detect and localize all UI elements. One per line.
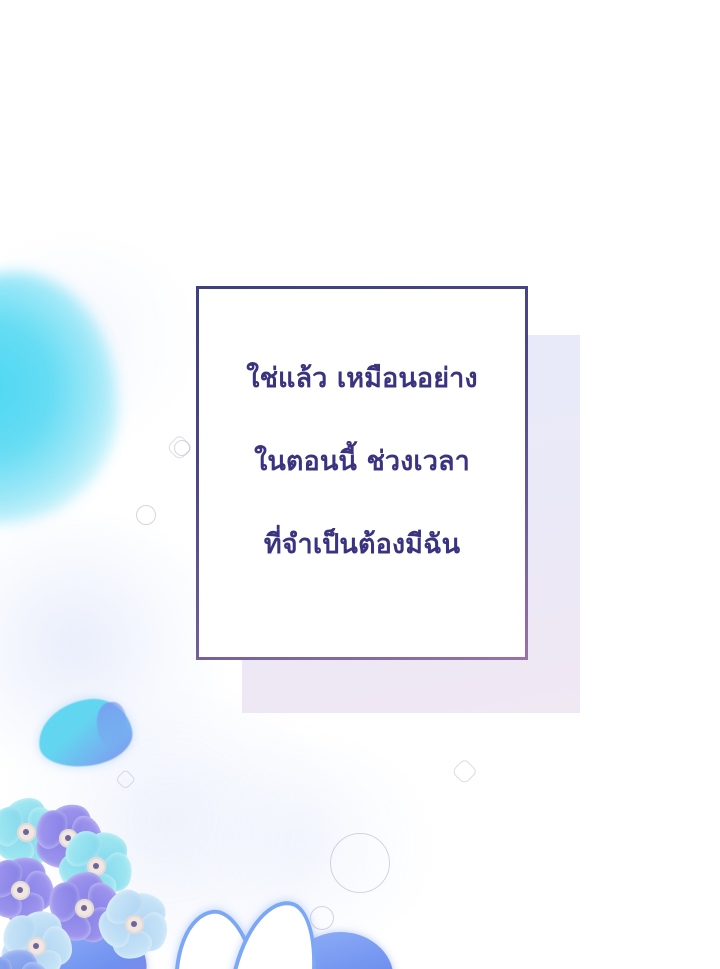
cluster-flower: [0, 900, 82, 969]
doodle-circle-large: [330, 833, 390, 893]
comic-page: ใช่แล้ว เหมือนอย่าง ในตอนนี้ ช่วงเวลา ที…: [0, 0, 720, 969]
flower-lobe: [165, 905, 265, 969]
doodle-diamond-c: [115, 769, 136, 790]
flower-center: [59, 829, 78, 848]
flower-lobe: [225, 894, 328, 969]
mist-blur-left: [0, 520, 220, 770]
mist-blur-bottom-left: [10, 690, 330, 950]
cyan-petal-shape: [34, 694, 136, 772]
flower-center: [75, 899, 94, 918]
flower-center: [27, 937, 46, 956]
cluster-flower: [0, 940, 60, 969]
doodle-diamond-a: [166, 434, 193, 461]
cluster-flower: [26, 796, 110, 880]
blue-bud-center-left: [46, 917, 150, 969]
flower-center: [87, 857, 106, 876]
mist-blur-bottom-center: [170, 740, 430, 950]
cluster-flower: [48, 818, 144, 914]
doodle-circle-small-b: [136, 505, 156, 525]
speech-panel: ใช่แล้ว เหมือนอย่าง ในตอนนี้ ช่วงเวลา ที…: [196, 286, 528, 660]
cluster-flower: [38, 862, 130, 954]
white-outlined-flower: [172, 900, 322, 969]
mist-blur-top-left: [0, 240, 190, 440]
flower-center: [125, 915, 144, 934]
cluster-flower: [0, 790, 68, 874]
blue-bud-left: [0, 940, 70, 969]
cyan-watercolor-blob: [0, 272, 118, 524]
cluster-flower: [90, 880, 178, 968]
flower-center: [11, 881, 30, 900]
blue-bud-center-right: [287, 928, 396, 969]
cluster-flower: [0, 848, 62, 932]
dialogue-line-1: ใช่แล้ว เหมือนอย่าง: [246, 358, 477, 400]
doodle-circle-small-a: [174, 440, 190, 456]
doodle-diamond-b: [451, 758, 478, 785]
flower-center: [17, 823, 36, 842]
dialogue-text: ใช่แล้ว เหมือนอย่าง ในตอนนี้ ช่วงเวลา ที…: [236, 316, 487, 607]
dialogue-line-3: ที่จำเป็นต้องมีฉัน: [246, 524, 477, 566]
dialogue-line-2: ในตอนนี้ ช่วงเวลา: [246, 441, 477, 483]
doodle-circle-medium: [310, 906, 334, 930]
